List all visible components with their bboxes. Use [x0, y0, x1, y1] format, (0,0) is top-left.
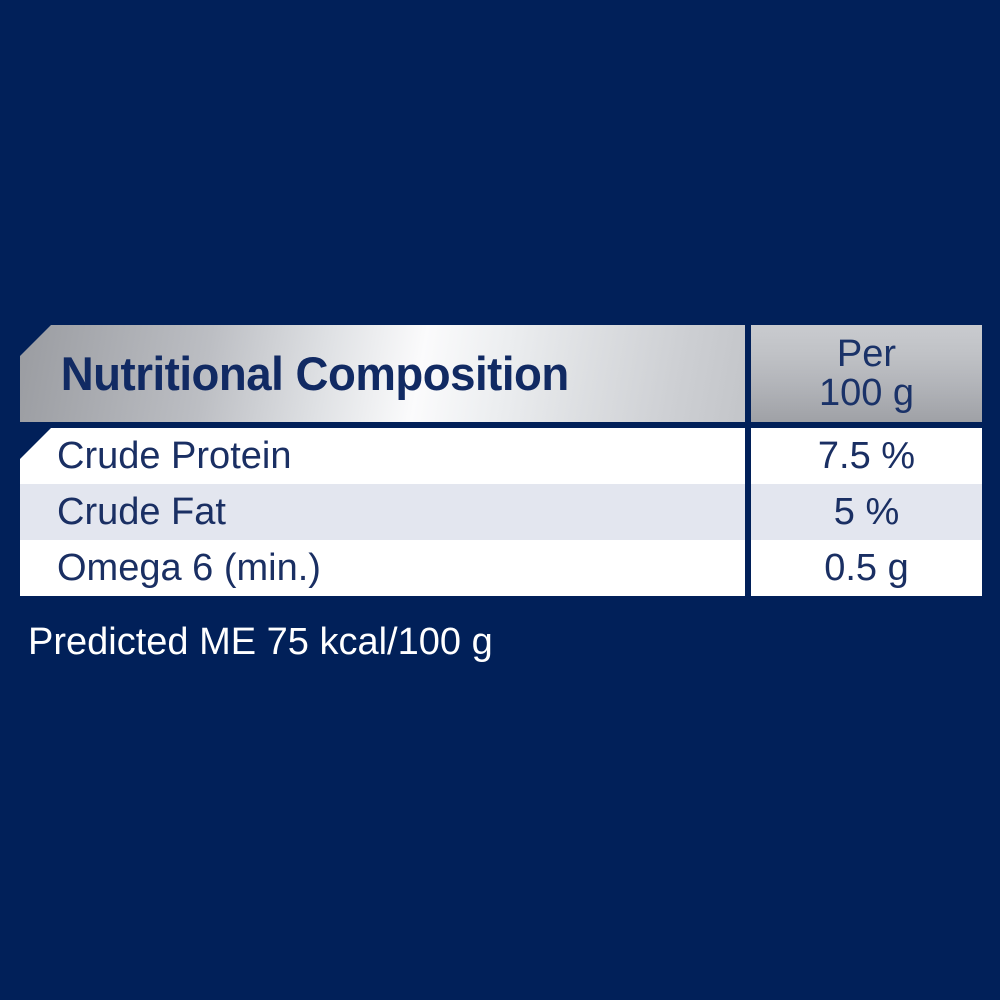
row-value-cell: 7.5 %	[745, 428, 982, 484]
page-title: Nutritional Composition	[20, 346, 569, 401]
value-column-header-line1: Per	[837, 335, 896, 374]
row-label-cell: Crude Protein	[20, 428, 745, 484]
table-row: Crude Protein 7.5 %	[20, 428, 982, 484]
table-row: Omega 6 (min.) 0.5 g	[20, 540, 982, 596]
nutrient-value: 0.5 g	[824, 547, 909, 590]
nutrient-name: Omega 6 (min.)	[57, 547, 321, 590]
row-value-cell: 5 %	[745, 484, 982, 540]
nutrient-value: 7.5 %	[818, 435, 915, 478]
value-column-header-cell: Per 100 g	[751, 325, 982, 422]
row-value-cell: 0.5 g	[745, 540, 982, 596]
table-header-row: Nutritional Composition Per 100 g	[20, 325, 982, 422]
row-label-cell: Crude Fat	[20, 484, 745, 540]
row-label-cell: Omega 6 (min.)	[20, 540, 745, 596]
table-title-cell: Nutritional Composition	[20, 325, 745, 422]
predicted-me-footnote: Predicted ME 75 kcal/100 g	[28, 621, 493, 664]
nutrient-name: Crude Fat	[57, 491, 226, 534]
value-column-header-line2: 100 g	[819, 374, 914, 413]
column-divider	[745, 428, 751, 596]
nutrition-composition-panel: Nutritional Composition Per 100 g Crude …	[20, 325, 982, 596]
table-row: Crude Fat 5 %	[20, 484, 982, 540]
nutrient-name: Crude Protein	[57, 435, 291, 478]
table-body: Crude Protein 7.5 % Crude Fat 5 % Omega …	[20, 428, 982, 596]
nutrient-value: 5 %	[834, 491, 899, 534]
